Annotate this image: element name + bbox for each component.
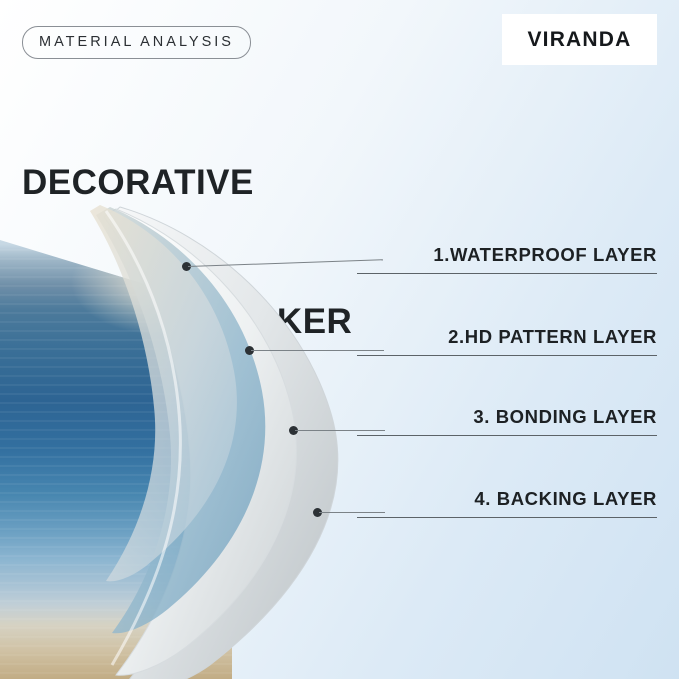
poster-canvas: MATERIAL ANALYSIS VIRANDA DECORATIVE 3D … <box>0 0 679 679</box>
callout-rule-4 <box>357 517 657 518</box>
callout-backing-layer: 4. BACKING LAYER <box>357 488 657 518</box>
callout-rule-3 <box>357 435 657 436</box>
callout-label-2: 2.HD PATTERN LAYER <box>357 326 657 355</box>
brand-logo-box: VIRANDA <box>502 14 657 65</box>
callout-hd-pattern-layer: 2.HD PATTERN LAYER <box>357 326 657 356</box>
eyebrow-badge: MATERIAL ANALYSIS <box>22 26 251 59</box>
callout-label-3: 3. BONDING LAYER <box>357 406 657 435</box>
callout-label-4: 4. BACKING LAYER <box>357 488 657 517</box>
callout-rule-1 <box>357 273 657 274</box>
callout-label-1: 1.WATERPROOF LAYER <box>357 244 657 273</box>
callout-rule-2 <box>357 355 657 356</box>
brand-name: VIRANDA <box>527 28 631 52</box>
callout-bonding-layer: 3. BONDING LAYER <box>357 406 657 436</box>
callout-waterproof-layer: 1.WATERPROOF LAYER <box>357 244 657 274</box>
